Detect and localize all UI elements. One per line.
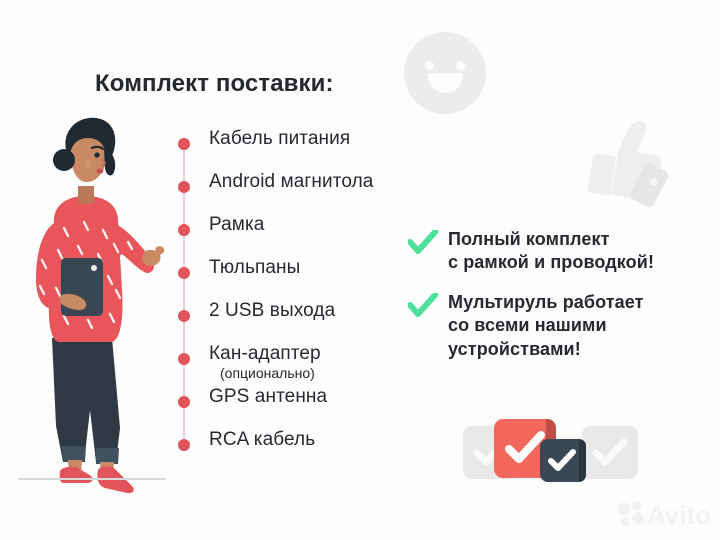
list-item: Кабель питания [178,133,438,176]
highlight-line-1: Полный комплект [448,229,609,249]
list-item-label: Кан-адаптер [209,343,321,365]
list-item-label: Кабель питания [209,128,350,150]
smiley-mouth [428,73,463,93]
list-item: 2 USB выхода [178,305,438,348]
promo-card: Комплект поставки: Кабель питания Androi… [0,0,720,540]
kit-contents-list: Кабель питания Android магнитола Рамка Т… [178,133,438,477]
list-item: Кан-адаптер (опционально) [178,348,438,391]
highlight-line-1: Мультируль работает [448,292,644,312]
page-title: Комплект поставки: [95,70,334,98]
list-item: Android магнитола [178,176,438,219]
list-item: Тюльпаны [178,262,438,305]
list-item-label: Android магнитола [209,171,373,193]
list-item-label: GPS антенна [209,386,327,408]
smiley-eye-left [425,61,434,70]
list-item-label: 2 USB выхода [209,300,335,322]
thumbs-up-icon [578,112,688,222]
green-check-icon [408,230,438,256]
bullet-dot-icon [178,353,190,365]
highlight-text: Мультируль работает со всеми нашими устр… [448,291,703,361]
smiley-eye-right [456,61,465,70]
bullet-dot-icon [178,224,190,236]
highlight-statements: Полный комплект с рамкой и проводкой! Му… [408,228,703,377]
bullet-dot-icon [178,138,190,150]
bullet-dot-icon [178,267,190,279]
smiley-face-icon [404,32,486,114]
highlight-line-3: устройствами! [448,339,581,359]
ground-line [18,478,166,480]
highlight-text: Полный комплект с рамкой и проводкой! [448,228,703,275]
list-item: RCA кабель [178,434,438,477]
highlight-line-2: с рамкой и проводкой! [448,252,654,272]
bullet-dot-icon [178,396,190,408]
list-item-label: Тюльпаны [209,257,300,279]
list-item: Рамка [178,219,438,262]
avito-wordmark: Avito [647,500,711,529]
checkbox-badges-icon [463,418,638,483]
bullet-dot-icon [178,310,190,322]
list-item-label: RCA кабель [209,429,315,451]
list-item-label: Рамка [209,214,264,236]
highlight-line-2: со всеми нашими [448,315,607,335]
bullet-dot-icon [178,181,190,193]
woman-with-tablet-pointing-illustration [8,110,173,510]
highlight-statement: Мультируль работает со всеми нашими устр… [408,291,703,361]
checkbox-badge-gray-right [582,426,638,479]
list-item-sublabel: (опционально) [220,365,315,381]
green-check-icon [408,293,438,319]
bullet-dot-icon [178,439,190,451]
highlight-statement: Полный комплект с рамкой и проводкой! [408,228,703,275]
checkbox-badge-dark [540,439,586,482]
avito-watermark: Avito [616,499,712,529]
list-item: GPS антенна [178,391,438,434]
